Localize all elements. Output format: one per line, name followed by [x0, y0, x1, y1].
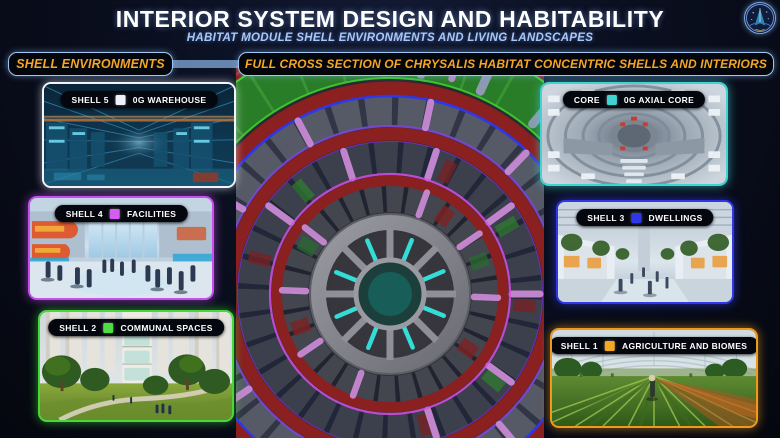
panel-shell5[interactable]: SHELL 5 0G WAREHOUSE — [42, 82, 236, 188]
shell-name: COMMUNAL SPACES — [120, 323, 212, 333]
page-subtitle: HABITAT MODULE SHELL ENVIRONMENTS AND LI… — [0, 32, 780, 44]
panel-shell3[interactable]: SHELL 3 DWELLINGS — [556, 200, 734, 304]
concentric-rings-render — [236, 66, 544, 438]
shell-name: 0G WAREHOUSE — [133, 95, 207, 105]
panel-core[interactable]: CORE 0G AXIAL CORE — [540, 82, 728, 186]
shell-color-swatch — [110, 209, 120, 219]
shell-number: SHELL 4 — [66, 209, 103, 219]
panel-shell2[interactable]: SHELL 2 COMMUNAL SPACES — [38, 310, 234, 422]
shell-name: 0G AXIAL CORE — [624, 95, 694, 105]
shell-color-swatch — [607, 95, 617, 105]
shell-name: FACILITIES — [127, 209, 176, 219]
page-title: INTERIOR SYSTEM DESIGN AND HABITABILITY — [0, 6, 780, 33]
panel-label-shell5: SHELL 5 0G WAREHOUSE — [61, 91, 218, 108]
shell-number: SHELL 3 — [587, 213, 624, 223]
panel-label-shell1: SHELL 1 AGRICULTURE AND BIOMES — [550, 337, 758, 354]
shell-name: DWELLINGS — [649, 213, 703, 223]
panel-label-shell2: SHELL 2 COMMUNAL SPACES — [48, 319, 224, 336]
panel-shell4[interactable]: SHELL 4 FACILITIES — [28, 196, 214, 300]
panel-label-shell3: SHELL 3 DWELLINGS — [576, 209, 713, 226]
shell-number: SHELL 2 — [59, 323, 96, 333]
shell-color-swatch — [116, 95, 126, 105]
shell-number: SHELL 5 — [72, 95, 109, 105]
banner-cross-section: FULL CROSS SECTION OF CHRYSALIS HABITAT … — [238, 52, 774, 76]
shell-color-swatch — [632, 213, 642, 223]
shell-number: SHELL 1 — [561, 341, 598, 351]
panel-shell1[interactable]: SHELL 1 AGRICULTURE AND BIOMES — [550, 328, 758, 428]
mission-patch-icon — [744, 2, 776, 34]
panel-label-shell4: SHELL 4 FACILITIES — [55, 205, 188, 222]
shell-name: AGRICULTURE AND BIOMES — [622, 341, 747, 351]
shell-color-swatch — [103, 323, 113, 333]
panel-label-core: CORE 0G AXIAL CORE — [563, 91, 705, 108]
shell-number: CORE — [574, 95, 600, 105]
poster-root: INTERIOR SYSTEM DESIGN AND HABITABILITY … — [0, 0, 780, 438]
banner-shell-environments: SHELL ENVIRONMENTS — [8, 52, 173, 76]
shell-color-swatch — [605, 341, 615, 351]
habitat-cross-section-image — [236, 66, 544, 438]
